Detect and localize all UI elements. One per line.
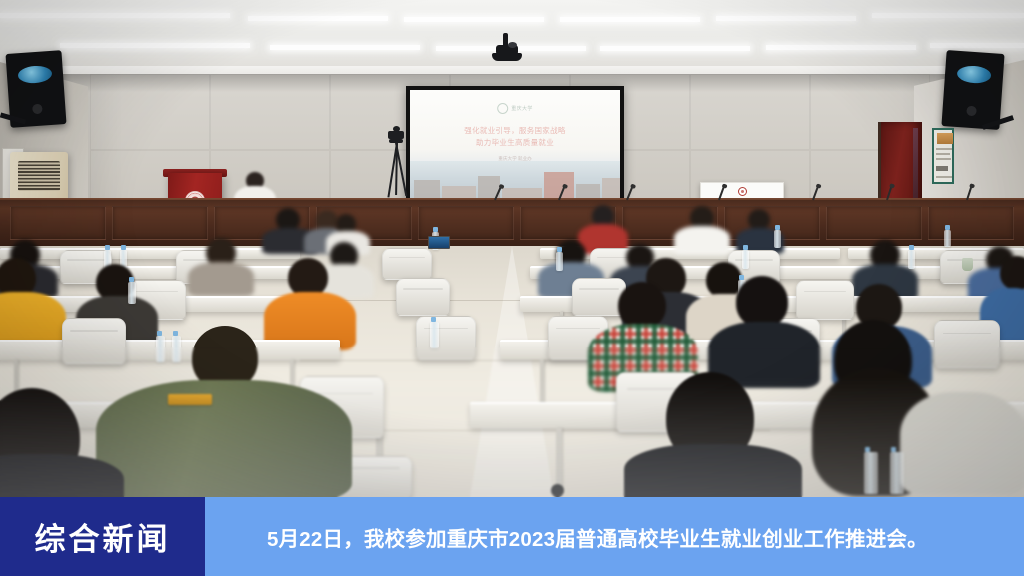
water-bottle <box>556 252 563 271</box>
slide-logo-text: 重庆大学 <box>511 105 533 112</box>
chair <box>416 316 476 360</box>
water-bottle <box>774 230 781 248</box>
chair <box>934 320 1000 368</box>
caption-area: 5月22日，我校参加重庆市2023届普通高校毕业生就业创业工作推进会。 <box>205 497 1024 576</box>
water-bottle <box>908 250 915 269</box>
wall-notice-board <box>932 128 954 184</box>
water-bottle <box>128 282 136 304</box>
water-bottle <box>742 250 749 269</box>
slide-title-line1: 强化就业引导，服务国家战略 <box>410 125 620 137</box>
ceiling <box>0 0 1024 78</box>
slide-campus-photo <box>410 161 620 198</box>
chair <box>396 278 450 316</box>
water-bottle <box>944 230 951 247</box>
slide-university-logo: 重庆大学 <box>497 103 533 114</box>
slide-title: 强化就业引导，服务国家战略 助力毕业生高质量就业 <box>410 125 620 149</box>
red-seal-icon <box>738 187 747 196</box>
slide-title-line2: 助力毕业生高质量就业 <box>410 137 620 149</box>
screenshot-root: 重庆大学 强化就业引导，服务国家战略 助力毕业生高质量就业 重庆大学 就业办 二… <box>0 0 1024 576</box>
caption-text: 5月22日，我校参加重庆市2023届普通高校毕业生就业创业工作推进会。 <box>267 522 928 552</box>
chair <box>382 248 432 280</box>
projection-screen: 重庆大学 强化就业引导，服务国家战略 助力毕业生高质量就业 重庆大学 就业办 二… <box>406 86 624 202</box>
category-chip: 综合新闻 <box>0 497 205 576</box>
category-label: 综合新闻 <box>35 514 171 559</box>
laptop <box>428 236 450 249</box>
stage-front <box>0 200 1024 248</box>
water-bottle <box>172 336 181 362</box>
caption-bar: 综合新闻 5月22日，我校参加重庆市2023届普通高校毕业生就业创业工作推进会。 <box>0 497 1024 576</box>
news-photo: 重庆大学 强化就业引导，服务国家战略 助力毕业生高质量就业 重庆大学 就业办 二… <box>0 0 1024 497</box>
tea-cup <box>962 258 973 271</box>
water-bottle <box>430 322 439 348</box>
chair <box>796 280 854 320</box>
water-bottle <box>156 336 165 362</box>
chair <box>62 318 126 364</box>
